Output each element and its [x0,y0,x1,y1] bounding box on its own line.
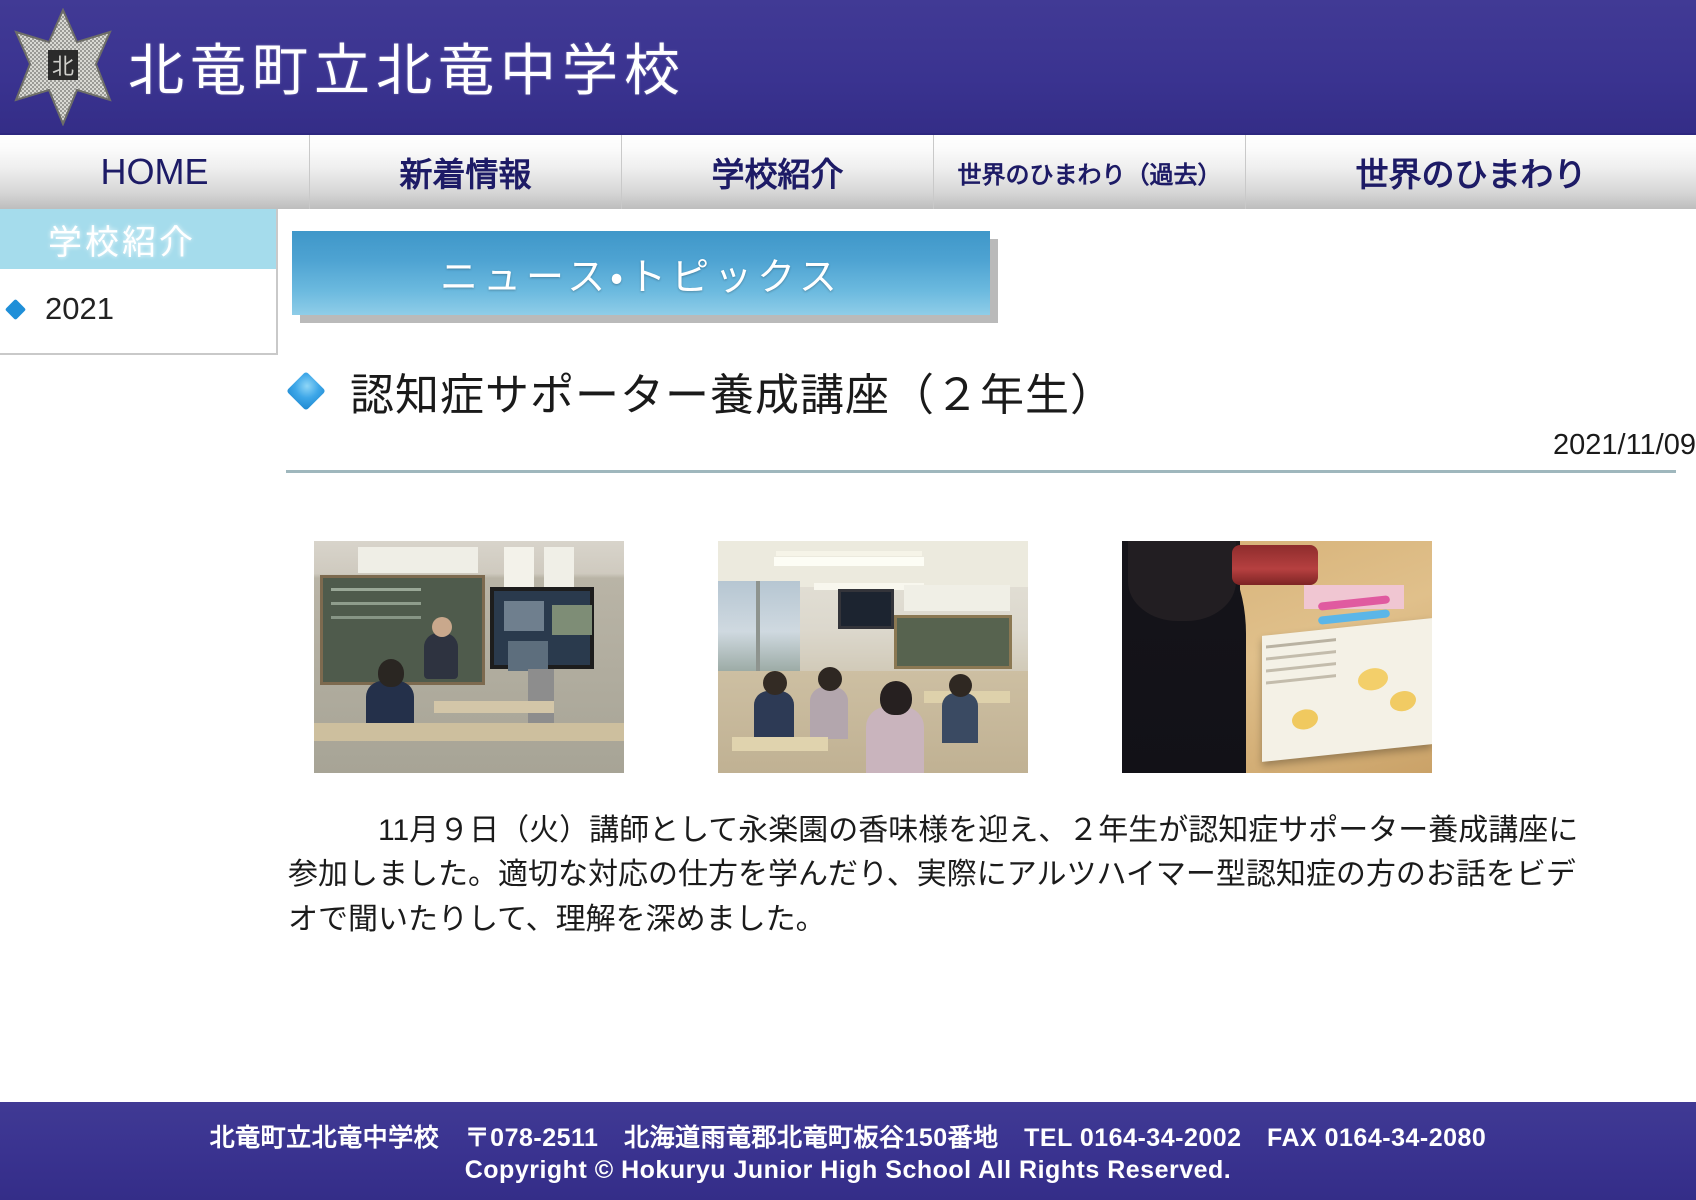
main-column: ニュース・トピックス 認知症サポーター養成講座（２年生） 2021/11/09 [278,209,1696,994]
site-title: 北竜町立北竜中学校 [128,26,686,107]
article-title: 認知症サポーター養成講座（２年生） [350,359,1115,423]
title-divider [286,470,1676,473]
news-topics-banner: ニュース・トピックス [292,231,990,315]
nav-sunflower[interactable]: 世界のひまわり [1246,135,1696,209]
news-topics-label: ニュース・トピックス [440,246,842,301]
page-root: 北 北竜町立北竜中学校 HOME 新着情報 学校紹介 世界のひまわり（過去） 世… [0,0,1696,1200]
sidebar: 学校紹介 2021 [0,209,278,355]
article-date: 2021/11/09 [278,429,1696,462]
school-crest-star-icon: 北 [4,8,122,126]
main-navigation: HOME 新着情報 学校紹介 世界のひまわり（過去） 世界のひまわり [0,133,1696,209]
site-header: 北 北竜町立北竜中学校 [0,0,1696,133]
nav-home[interactable]: HOME [0,135,310,209]
footer-copyright: Copyright © Hokuryu Junior High School A… [465,1156,1232,1185]
blue-diamond-bullet-icon [5,298,26,319]
article-body: 11月９日（火）講師として永楽園の香味様を迎え、２年生が認知症サポーター養成講座… [288,809,1588,942]
topics-banner-wrap: ニュース・トピックス [292,231,990,315]
sidebar-heading: 学校紹介 [0,209,276,271]
sidebar-list: 2021 [0,271,276,353]
article-body-text: 11月９日（火）講師として永楽園の香味様を迎え、２年生が認知症サポーター養成講座… [288,809,1588,942]
content-area: 学校紹介 2021 ニュース・トピックス 認知症サポーター養成講座（２年生） [0,209,1696,994]
article-title-row: 認知症サポーター養成講座（２年生） [278,359,1696,423]
blue-diamond-icon [286,371,326,411]
nav-school-intro[interactable]: 学校紹介 [622,135,934,209]
svg-text:北: 北 [52,55,74,80]
site-footer: 北竜町立北竜中学校 〒078-2511 北海道雨竜郡北竜町板谷150番地 TEL… [0,1099,1696,1200]
article: 認知症サポーター養成講座（２年生） 2021/11/09 [278,359,1696,942]
footer-address: 北竜町立北竜中学校 〒078-2511 北海道雨竜郡北竜町板谷150番地 TEL… [210,1118,1487,1154]
photo-classroom-monitor[interactable] [314,541,624,773]
sidebar-item-2021[interactable]: 2021 [0,283,276,335]
sidebar-item-label: 2021 [45,291,114,327]
photo-desk-handout[interactable] [1122,541,1432,773]
article-photos [314,541,1696,773]
photo-classroom-wide[interactable] [718,541,1028,773]
nav-sunflower-past[interactable]: 世界のひまわり（過去） [934,135,1246,209]
nav-news[interactable]: 新着情報 [310,135,622,209]
